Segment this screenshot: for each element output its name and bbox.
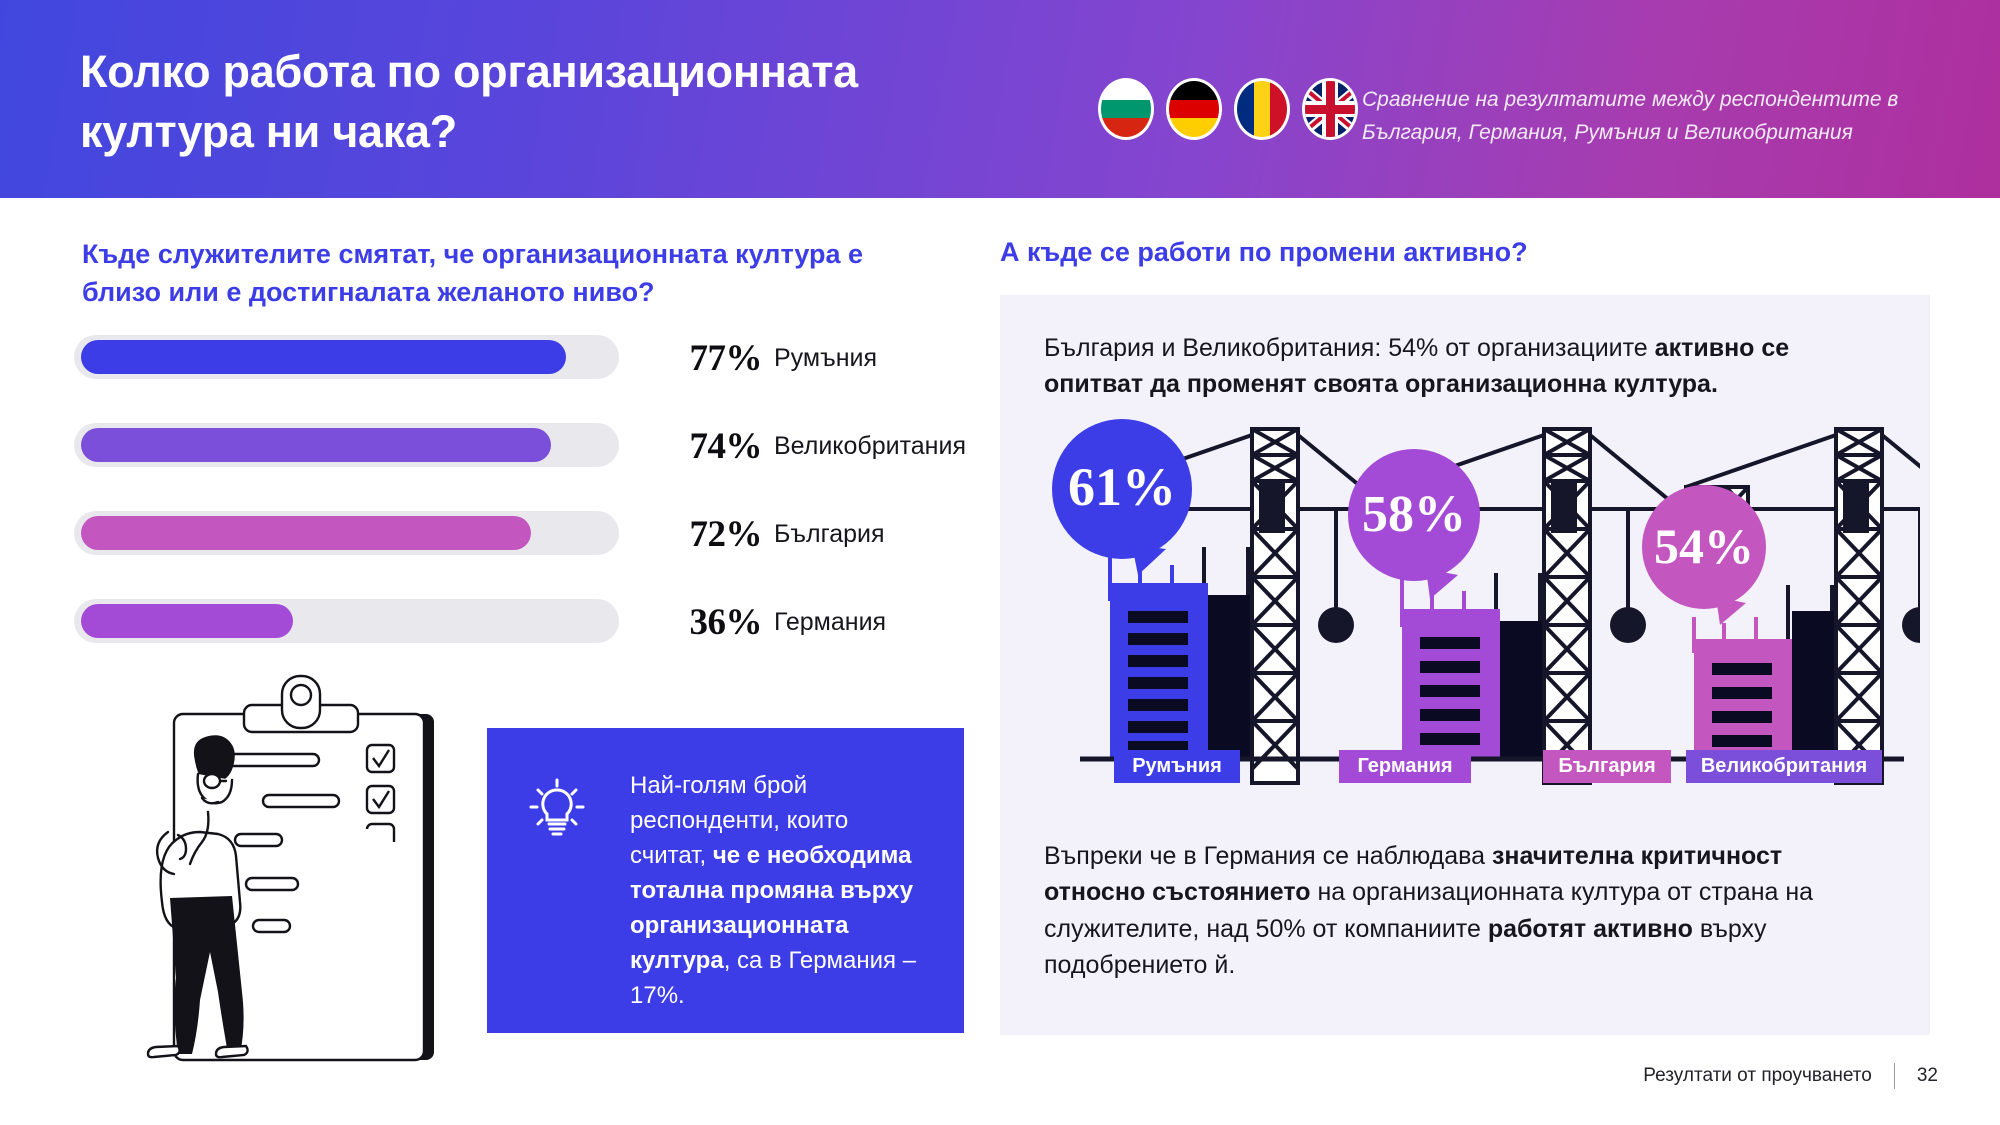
bar-label: Румъния (774, 344, 877, 373)
right-question: А къде се работи по промени активно? (1000, 237, 1528, 268)
footer-divider (1894, 1063, 1895, 1089)
left-question: Къде служителите смятат, че организацион… (82, 235, 932, 312)
bar-value: 77% (672, 337, 762, 380)
bar-value: 74% (672, 425, 762, 468)
flag-uk-icon (1302, 78, 1358, 140)
flag-germany-icon (1166, 78, 1222, 140)
bar-value: 36% (672, 601, 762, 644)
svg-text:58%: 58% (1362, 486, 1466, 543)
header-subtitle: Сравнение на резултатите между респонден… (1362, 84, 1922, 149)
tip-callout-box: Най-голям брой респонденти, които считат… (487, 728, 964, 1033)
slide-footer: Резултати от проучването 32 (1643, 1063, 1938, 1089)
chip-romania[interactable]: Румъния (1114, 750, 1240, 783)
bar-fill (81, 340, 566, 374)
bar-fill (81, 516, 531, 550)
chip-bulgaria[interactable]: България (1543, 750, 1671, 783)
bar-label: Великобритания (774, 432, 966, 461)
panel-bottom-part-1: Въпреки че в Германия се наблюдава (1044, 842, 1492, 870)
panel-top-part-1: България и Великобритания: 54% от органи… (1044, 334, 1655, 362)
person-with-clipboard-illustration (122, 662, 452, 1067)
flag-bulgaria-icon (1098, 78, 1154, 140)
tip-text: Най-голям брой респонденти, които считат… (630, 768, 930, 1013)
bar-label: България (774, 520, 885, 549)
svg-text:54%: 54% (1654, 518, 1754, 574)
chip-uk[interactable]: Великобритания (1686, 750, 1882, 783)
footer-label: Резултати от проучването (1643, 1065, 1872, 1087)
panel-bottom-bold-2: работят активно (1488, 915, 1693, 943)
lightbulb-icon (525, 776, 589, 845)
flag-romania-icon (1234, 78, 1290, 140)
panel-bottom-text: Въпреки че в Германия се наблюдава значи… (1044, 838, 1874, 983)
chip-germany[interactable]: Германия (1339, 750, 1471, 783)
svg-text:61%: 61% (1068, 457, 1176, 517)
bar-fill (81, 428, 551, 462)
page-title: Колко работа по организационната култура… (80, 42, 980, 162)
bar-label: Германия (774, 608, 886, 637)
flag-group (1098, 78, 1358, 140)
bar-value: 72% (672, 513, 762, 556)
page-number: 32 (1917, 1065, 1938, 1087)
panel-top-text: България и Великобритания: 54% от органи… (1044, 330, 1849, 403)
bar-fill (81, 604, 293, 638)
slide-header: Колко работа по организационната култура… (0, 0, 2000, 198)
right-panel: България и Великобритания: 54% от органи… (1000, 295, 1930, 1035)
